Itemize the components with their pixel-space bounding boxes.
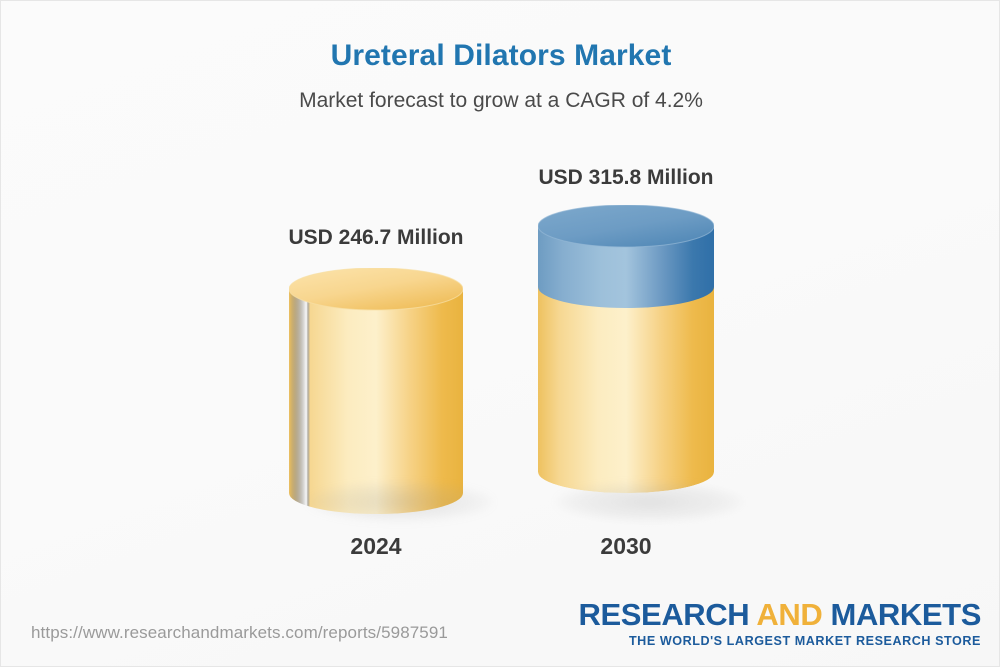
logo-tagline: THE WORLD'S LARGEST MARKET RESEARCH STOR… [579, 635, 982, 648]
logo-wordmark: RESEARCH AND MARKETS [579, 599, 982, 630]
source-url[interactable]: https://www.researchandmarkets.com/repor… [31, 623, 448, 643]
bar-cylinder-2024 [289, 268, 463, 514]
page-title: Ureteral Dilators Market [1, 39, 1000, 73]
bar-value-label-2030: USD 315.8 Million [536, 166, 716, 190]
bar-cylinder-svg-2030 [538, 205, 714, 514]
bar-cylinder-2030 [538, 205, 714, 514]
chart-canvas: Ureteral Dilators Market Market forecast… [0, 0, 1000, 667]
chart-subtitle: Market forecast to grow at a CAGR of 4.2… [1, 89, 1000, 113]
logo-word-research: RESEARCH [579, 597, 757, 632]
bar-value-label-2024: USD 246.7 Million [286, 226, 466, 250]
research-and-markets-logo[interactable]: RESEARCH AND MARKETS THE WORLD'S LARGEST… [579, 599, 982, 648]
logo-word-and: AND [756, 597, 822, 632]
bar-category-label-2024: 2024 [286, 533, 466, 560]
logo-word-markets: MARKETS [822, 597, 981, 632]
bar-category-label-2030: 2030 [536, 533, 716, 560]
bar-cylinder-svg-2024 [289, 268, 463, 514]
